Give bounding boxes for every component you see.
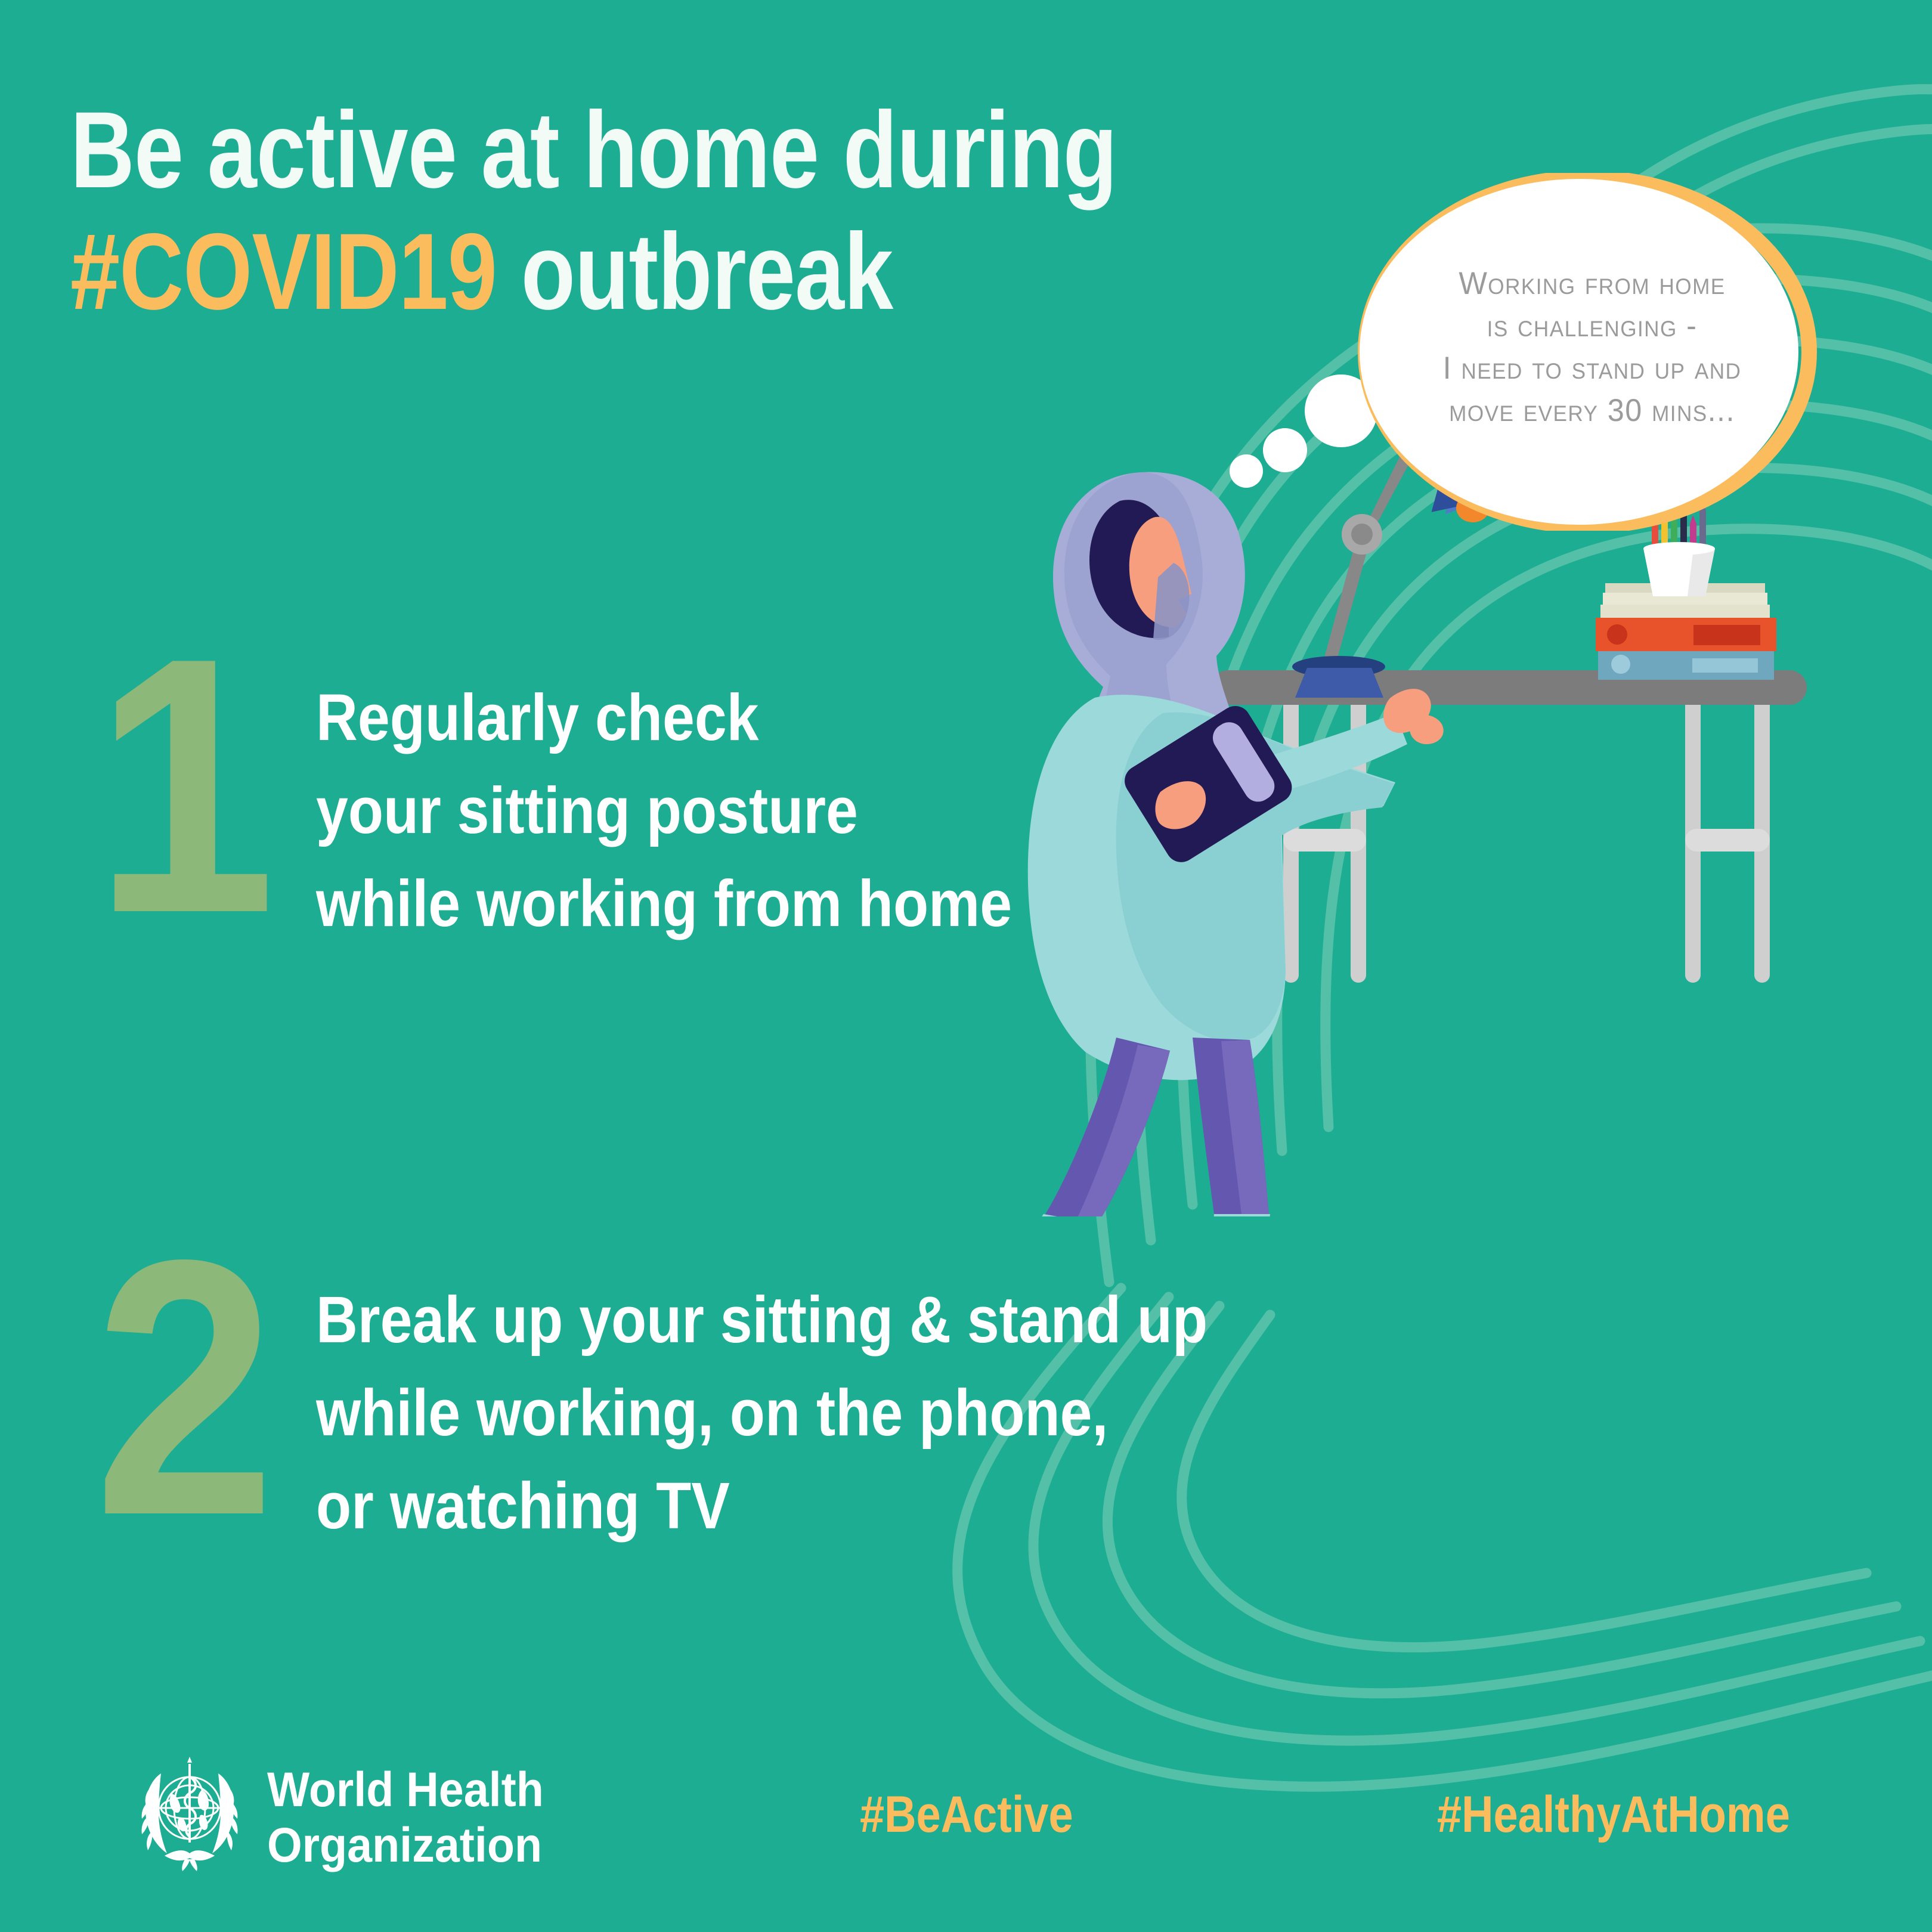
thought-dot-small bbox=[1230, 454, 1263, 488]
pencil-cup-rim bbox=[1643, 542, 1715, 555]
title-line-2: #COVID19 outbreak bbox=[70, 211, 1117, 333]
who-organization-name: World Health Organization bbox=[267, 1763, 544, 1873]
desk-crossbar-right bbox=[1685, 829, 1770, 852]
book-blue-dot bbox=[1611, 655, 1630, 674]
bubble-line-4: move every 30 mins... bbox=[1400, 389, 1785, 432]
bubble-line-3: I need to stand up and bbox=[1400, 347, 1785, 389]
tip-2-line-1: Break up your sitting & stand up bbox=[316, 1274, 1207, 1367]
foot-right bbox=[1213, 1214, 1279, 1216]
hashtag-healthyathome[interactable]: #HealthyAtHome bbox=[1437, 1785, 1790, 1844]
title-outbreak-word: outbreak bbox=[497, 210, 893, 332]
bubble-line-1: Working from home bbox=[1400, 262, 1785, 305]
hashtag-beactive[interactable]: #BeActive bbox=[860, 1785, 1073, 1844]
tip-number-1: 1 bbox=[72, 644, 298, 928]
finger bbox=[1410, 714, 1444, 744]
tip-2-line-2: while working, on the phone, bbox=[316, 1367, 1207, 1460]
thought-dot-medium bbox=[1263, 428, 1307, 472]
speech-bubble: Working from home is challenging - I nee… bbox=[1354, 173, 1825, 531]
tip-1-line-2: your sitting posture bbox=[316, 764, 1012, 857]
book-blue-band bbox=[1692, 658, 1758, 673]
lamp-base bbox=[1295, 668, 1383, 698]
desk-crossbar-left bbox=[1283, 829, 1366, 852]
tip-1-line-1: Regularly check bbox=[316, 671, 1012, 764]
who-infographic-poster: Be active at home during #COVID19 outbre… bbox=[0, 0, 1932, 1932]
tip-item-2: 2 Break up your sitting & stand up while… bbox=[60, 1246, 1329, 1553]
book-orange-band bbox=[1693, 625, 1760, 645]
tip-text-2: Break up your sitting & stand up while w… bbox=[316, 1246, 1207, 1553]
who-name-line-1: World Health bbox=[267, 1763, 544, 1818]
title-line-1: Be active at home during bbox=[70, 89, 1117, 211]
tip-item-1: 1 Regularly check your sitting posture w… bbox=[60, 644, 1107, 951]
poster-footer: World Health Organization #BeActive #Hea… bbox=[0, 1747, 1932, 1890]
work-from-home-illustration bbox=[1002, 417, 1932, 1216]
tip-number-2: 2 bbox=[72, 1246, 298, 1530]
tip-1-line-3: while working from home bbox=[316, 857, 1012, 950]
book-cream-1 bbox=[1600, 605, 1770, 618]
bubble-line-2: is challenging - bbox=[1400, 305, 1785, 347]
tip-2-line-3: or watching TV bbox=[316, 1460, 1207, 1553]
covid19-hashtag: #COVID19 bbox=[70, 210, 497, 332]
who-emblem-icon bbox=[130, 1753, 249, 1872]
book-orange-dot bbox=[1607, 624, 1627, 645]
speech-bubble-text: Working from home is challenging - I nee… bbox=[1400, 262, 1785, 432]
desk-icon bbox=[1210, 670, 1807, 983]
who-name-line-2: Organization bbox=[267, 1818, 544, 1874]
tip-text-1: Regularly check your sitting posture whi… bbox=[316, 644, 1012, 951]
book-stack-icon bbox=[1596, 583, 1776, 680]
poster-header: Be active at home during #COVID19 outbre… bbox=[70, 89, 1346, 333]
